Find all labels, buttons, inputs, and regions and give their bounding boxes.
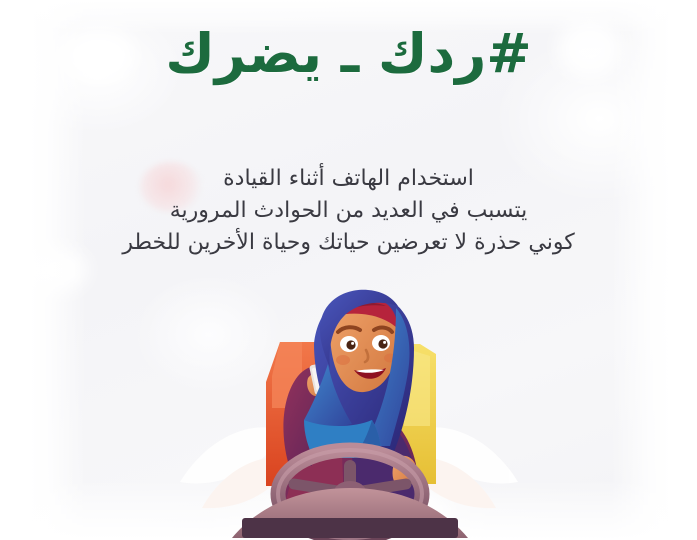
- body-message: استخدام الهاتف أثناء القيادة يتسبب في ال…: [0, 163, 697, 259]
- page-title: #ردك ـ يضرك: [0, 26, 697, 83]
- body-line-2: يتسبب في العديد من الحوادث المرورية: [0, 195, 697, 227]
- dashboard: [232, 488, 468, 538]
- body-line-3: كوني حذرة لا تعرضين حياتك وحياة الأخرين …: [0, 227, 697, 259]
- poster-canvas: #ردك ـ يضرك استخدام الهاتف أثناء القيادة…: [0, 0, 697, 540]
- body-line-1: استخدام الهاتف أثناء القيادة: [0, 163, 697, 195]
- illustration-woman-driving-using-phone: [168, 286, 530, 540]
